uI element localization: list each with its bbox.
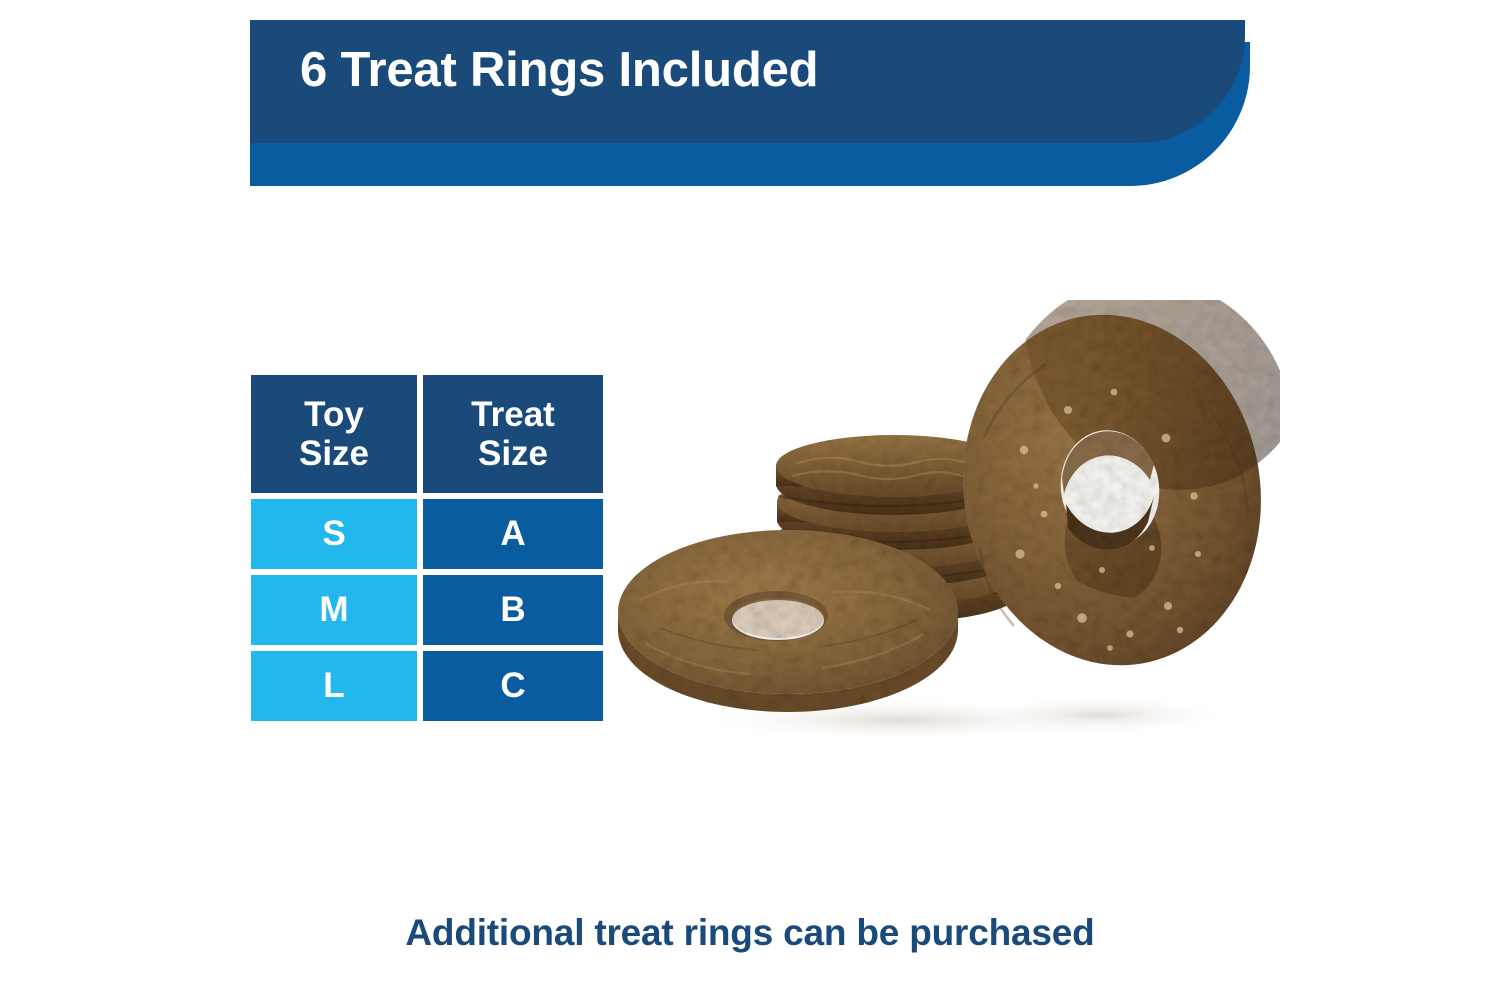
cell-toy-size-s: S (322, 514, 345, 554)
table-row: A (423, 499, 603, 569)
table-row: L (251, 651, 417, 721)
table-header-toy-size-line2: Size (299, 434, 369, 473)
cell-treat-size-a: A (500, 514, 525, 554)
table-header-treat-size-line1: Treat (471, 395, 555, 434)
table-row: S (251, 499, 417, 569)
treat-ring-front (618, 530, 958, 712)
treat-ring-upright (936, 300, 1280, 689)
cell-treat-size-c: C (500, 666, 525, 706)
table-row: M (251, 575, 417, 645)
table-header-toy-size: Toy Size (251, 375, 417, 493)
table-row: C (423, 651, 603, 721)
size-chart-table: Toy Size Treat Size S A M B L C (251, 375, 603, 721)
table-header-treat-size-line2: Size (478, 434, 548, 473)
footer-caption: Additional treat rings can be purchased (0, 912, 1500, 954)
table-row: B (423, 575, 603, 645)
cell-toy-size-m: M (319, 590, 348, 630)
table-header-treat-size: Treat Size (423, 375, 603, 493)
cell-toy-size-l: L (323, 666, 344, 706)
treat-rings-photo (600, 300, 1280, 750)
infographic-page: 6 Treat Rings Included Toy Size Treat Si… (0, 0, 1500, 1000)
table-header-toy-size-line1: Toy (304, 395, 364, 434)
cell-treat-size-b: B (500, 590, 525, 630)
header-banner: 6 Treat Rings Included (250, 20, 1260, 170)
page-title: 6 Treat Rings Included (300, 46, 818, 95)
photo-shadow (970, 695, 1230, 735)
